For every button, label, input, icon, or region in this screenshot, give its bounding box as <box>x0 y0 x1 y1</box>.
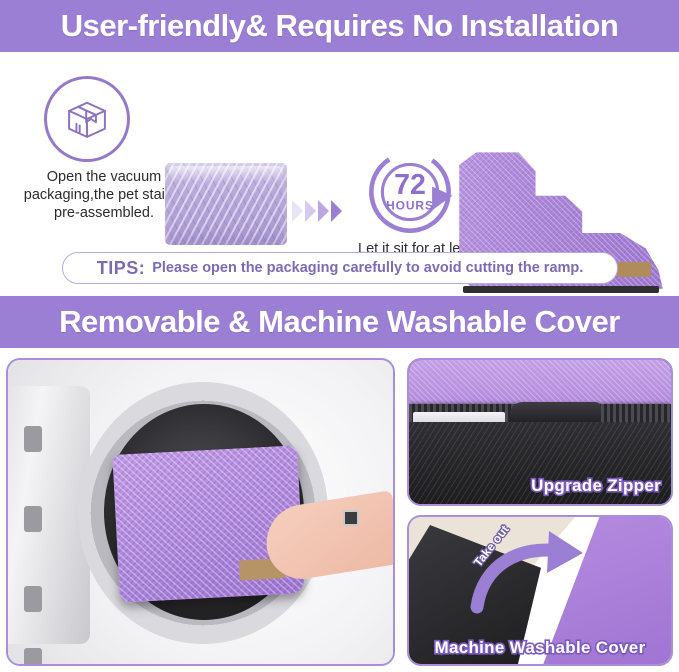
upgrade-zipper-label: Upgrade Zipper <box>531 476 661 496</box>
door-hinge <box>24 506 42 532</box>
take-out-arrow-icon <box>457 529 585 619</box>
washer-control-knob <box>343 510 359 526</box>
zipper-purple-fabric <box>409 360 671 408</box>
banner-top-title: User-friendly& Requires No Installation <box>61 8 619 44</box>
pet-stair-base <box>463 286 658 293</box>
instruction-steps-section: Open the vacuum packaging,the pet stair … <box>0 58 679 238</box>
package-box-icon <box>44 76 130 162</box>
header-banner-middle: Removable & Machine Washable Cover <box>0 296 679 348</box>
machine-washable-cover-label: Machine Washable Cover <box>435 638 646 658</box>
vacuum-packed-product-image <box>165 163 287 245</box>
header-banner-top: User-friendly& Requires No Installation <box>0 0 679 52</box>
badge-unit-text: HOURS <box>386 198 434 212</box>
door-hinge <box>24 426 42 452</box>
seventy-two-hours-badge: 72 HOURS <box>364 146 456 238</box>
washing-machine-photo-panel <box>6 358 395 666</box>
door-hinge <box>24 586 42 612</box>
brand-tag <box>617 262 651 277</box>
badge-number-text: 72 <box>394 169 426 201</box>
door-hinge <box>24 648 42 666</box>
chevron-right-icon <box>292 200 303 222</box>
zipper-photo-panel: Upgrade Zipper <box>407 358 673 506</box>
chevron-right-icon <box>318 200 329 222</box>
banner-middle-title: Removable & Machine Washable Cover <box>59 304 620 340</box>
tips-text: Please open the packaging carefully to a… <box>152 260 583 276</box>
flow-chevron-arrows <box>292 200 342 222</box>
chevron-right-icon <box>331 200 342 222</box>
tips-callout: TIPS: Please open the packaging carefull… <box>62 252 618 284</box>
washable-cover-photo-panel: Take out Machine Washable Cover <box>407 515 673 666</box>
tips-label: TIPS: <box>97 258 146 279</box>
chevron-right-icon <box>305 200 316 222</box>
